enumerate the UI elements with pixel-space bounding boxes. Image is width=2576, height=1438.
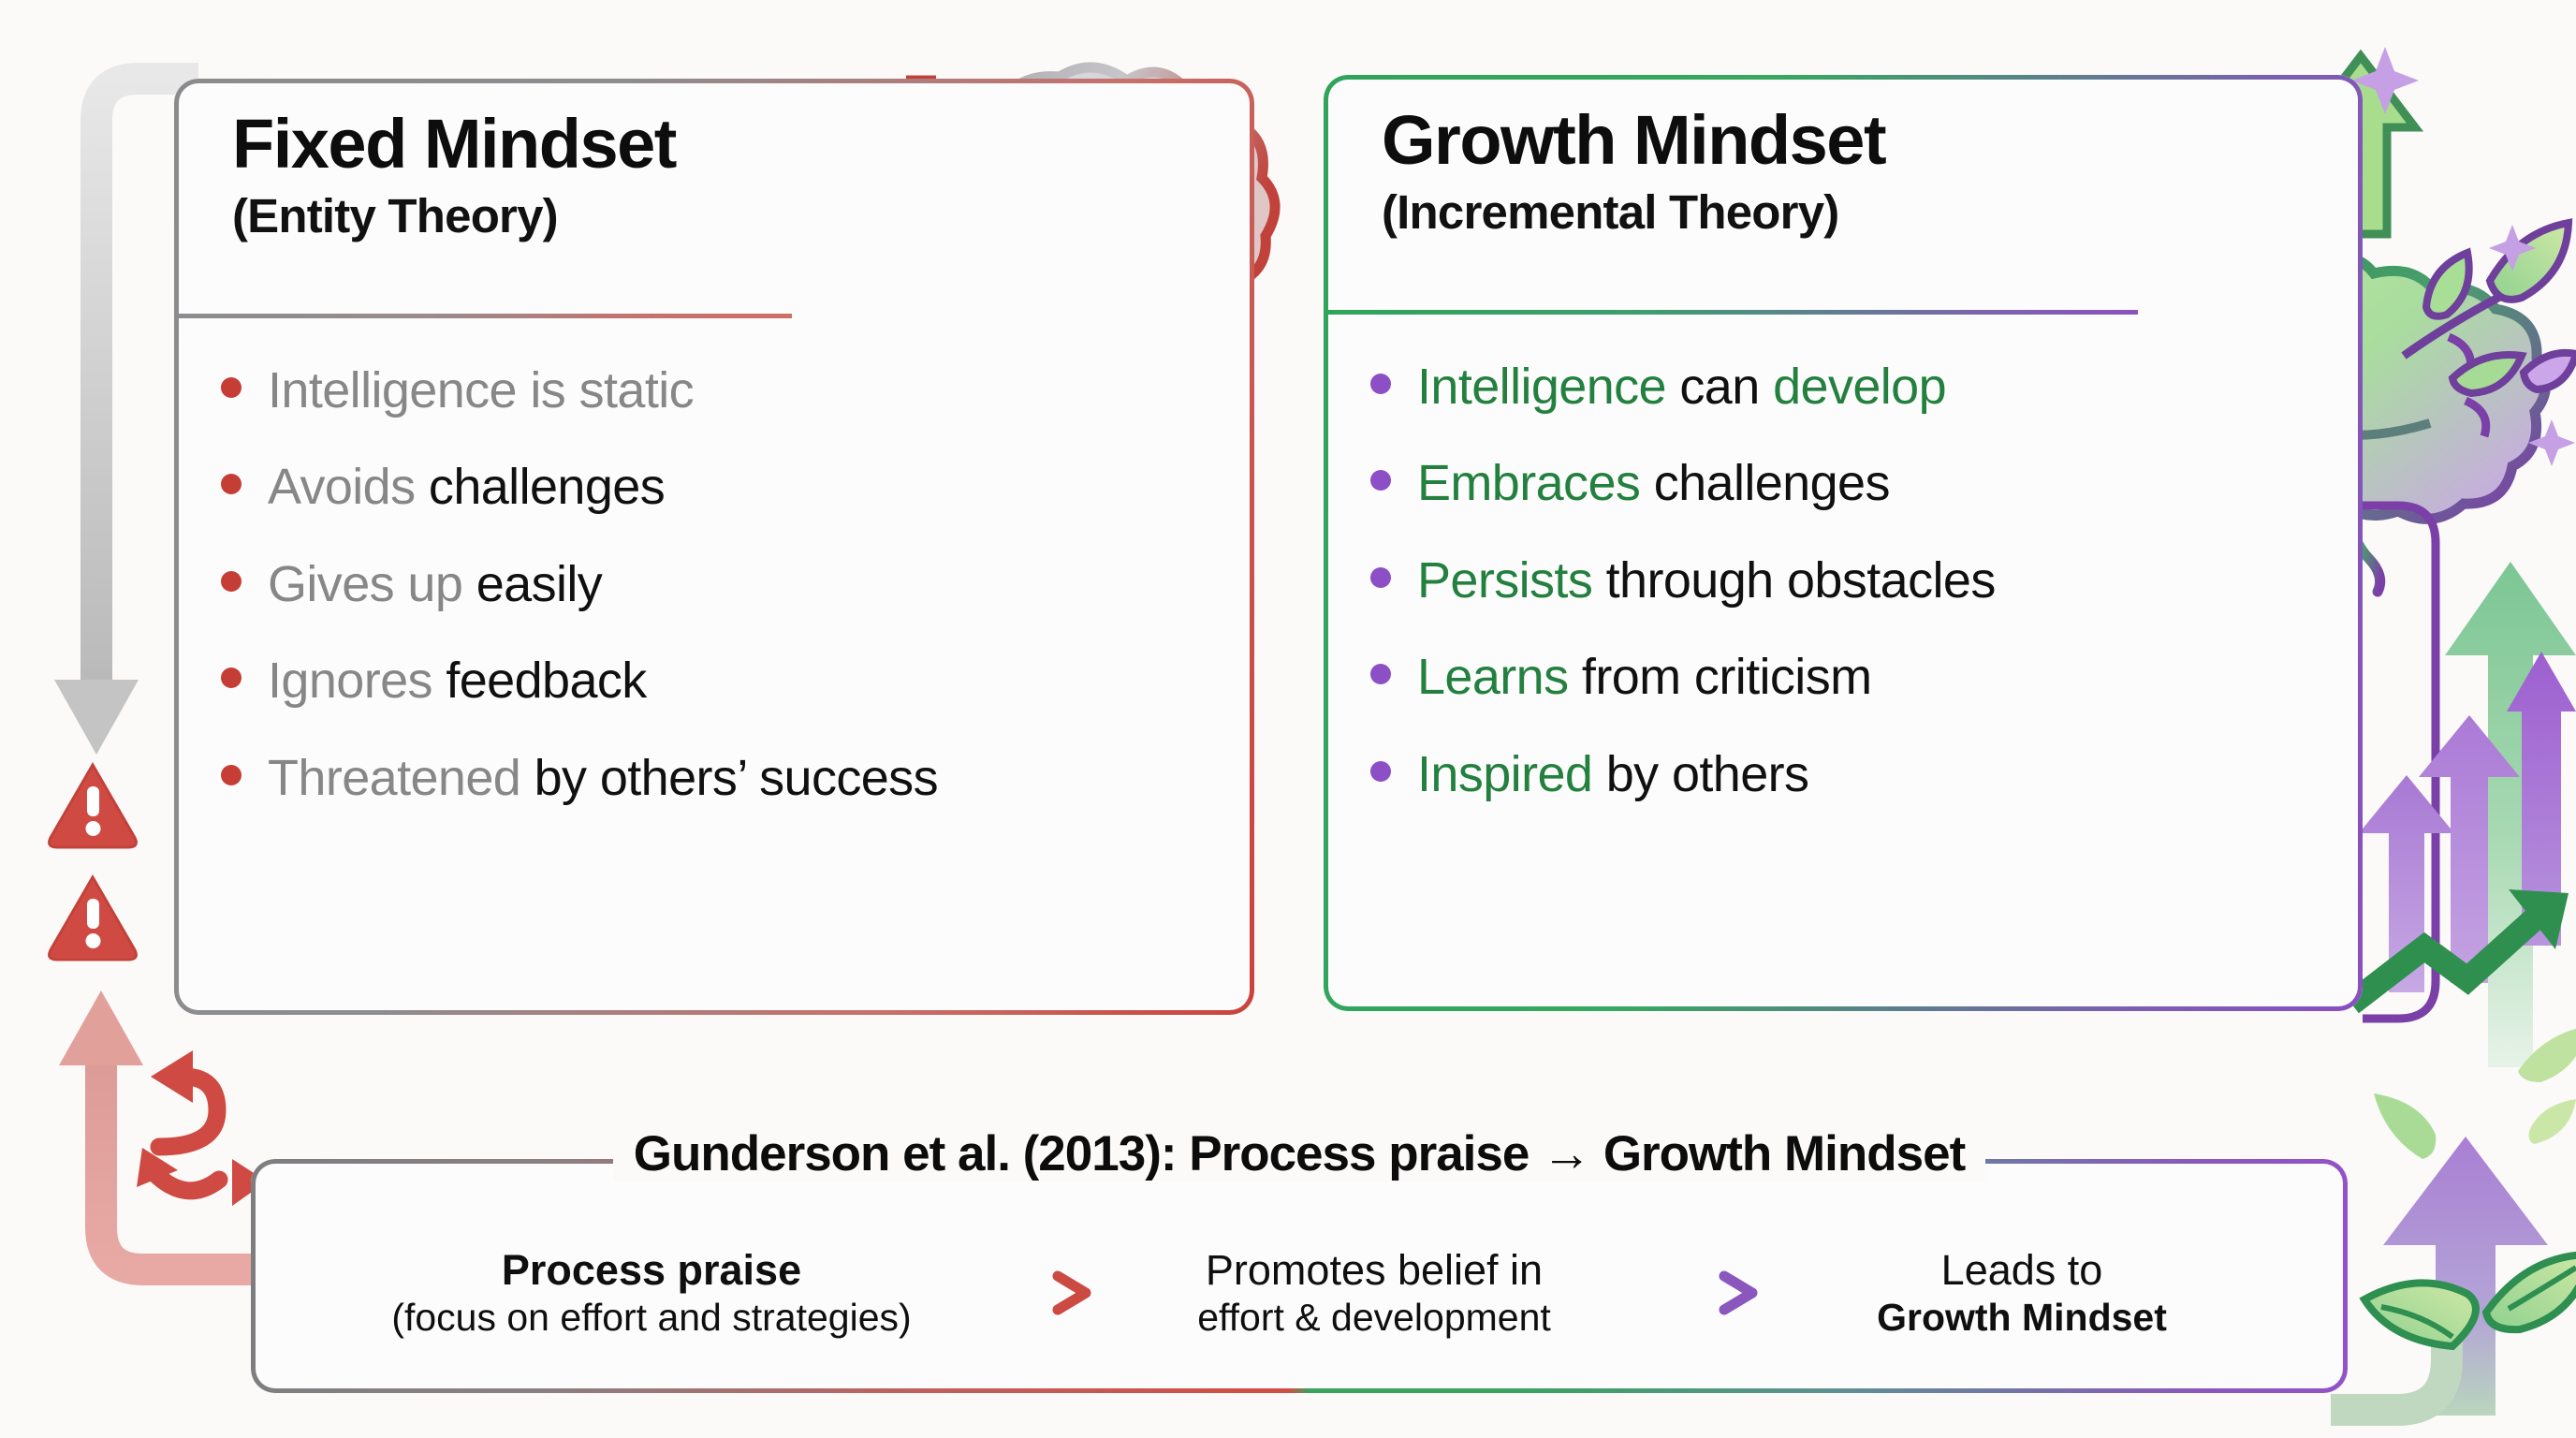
- flow-step-3: Leads to Growth Mindset: [1760, 1245, 2284, 1340]
- loop-arrow-back-icon: [151, 1050, 217, 1147]
- arrow-green-purple-icon: [1655, 1263, 1760, 1323]
- list-item: Inspired by others: [1370, 747, 2363, 802]
- red-up-arrow-icon: [59, 990, 251, 1269]
- purple-arrow-small-icon: [2359, 775, 2454, 992]
- growth-panel-title: Growth Mindset: [1382, 105, 2363, 177]
- list-item: Avoids challenges: [221, 460, 1254, 515]
- bullet-lead: Avoids: [268, 459, 429, 515]
- bullet-lead: Learns: [1417, 649, 1582, 705]
- process-flow: Process praise (focus on effort and stra…: [251, 1245, 2348, 1340]
- citation-box: Gunderson et al. (2013): Process praise …: [251, 1159, 2348, 1393]
- bullet-rest: by others’ success: [534, 750, 938, 806]
- bullet-lead-2: develop: [1773, 359, 1946, 415]
- bullet-lead: Intelligence: [1417, 359, 1679, 415]
- list-item: Embraces challenges: [1370, 456, 2363, 511]
- bullet-rest: challenges: [1654, 455, 1890, 511]
- bullet-rest: easily: [476, 556, 602, 612]
- warning-triangle-icon-2: [50, 877, 137, 960]
- bullet-lead: Embraces: [1417, 455, 1654, 511]
- infographic-canvas: Fixed Mindset (Entity Theory) Intelligen…: [0, 0, 2576, 1438]
- bullet-rest: feedback: [446, 653, 646, 709]
- bullet-rest: can: [1679, 359, 1773, 415]
- purple-arrow-medium-icon: [2419, 715, 2520, 983]
- leaf-icon-4: [2518, 1026, 2576, 1082]
- bullet-dot-icon: [221, 668, 241, 688]
- flow-step-2: Promotes belief in effort & development: [1093, 1245, 1655, 1340]
- bullet-lead: Gives up: [268, 556, 476, 612]
- flow-step-1-line1: Process praise: [315, 1245, 988, 1295]
- flow-step-1-line2: (focus on effort and strategies): [315, 1295, 988, 1340]
- list-item: Gives up easily: [221, 557, 1254, 612]
- bullet-rest: challenges: [429, 459, 665, 515]
- fixed-bullet-list: Intelligence is static Avoids challenges…: [174, 318, 1254, 806]
- fixed-panel-title: Fixed Mindset: [232, 109, 1254, 181]
- green-up-arrow-icon: [2445, 562, 2576, 1067]
- fixed-mindset-panel: Fixed Mindset (Entity Theory) Intelligen…: [174, 79, 1254, 1015]
- bullet-rest: from criticism: [1582, 649, 1872, 705]
- bullet-dot-icon: [1370, 470, 1391, 491]
- growth-mindset-panel: Growth Mindset (Incremental Theory) Inte…: [1324, 75, 2363, 1011]
- bullet-dot-icon: [1370, 567, 1391, 588]
- flow-step-2-line1: Promotes belief in: [1093, 1245, 1655, 1295]
- flow-step-2-line2: effort & development: [1093, 1295, 1655, 1340]
- purple-arrow-large-icon: [2507, 652, 2576, 946]
- loop-arrow-bidirectional-icon: [137, 1148, 267, 1206]
- citation-title-text: Gunderson et al. (2013): Process praise …: [613, 1126, 1986, 1181]
- bullet-lead: Inspired: [1417, 746, 1606, 802]
- green-zigzag-trend-arrow-icon: [2351, 889, 2569, 1004]
- bullet-lead: Threatened: [268, 750, 534, 806]
- bullet-rest: through obstacles: [1606, 552, 1996, 609]
- list-item: Threatened by others’ success: [221, 751, 1254, 806]
- fixed-panel-header: Fixed Mindset (Entity Theory): [174, 79, 1254, 318]
- bullet-dot-icon: [221, 474, 241, 494]
- list-item: Learns from criticism: [1370, 650, 2363, 705]
- leaf-icon-2: [2486, 1255, 2576, 1329]
- citation-title: Gunderson et al. (2013): Process praise …: [251, 1125, 2348, 1182]
- growth-panel-subtitle: (Incremental Theory): [1382, 184, 2363, 240]
- bullet-dot-icon: [221, 571, 241, 592]
- bullet-lead: Ignores: [268, 653, 446, 709]
- flow-step-1: Process praise (focus on effort and stra…: [315, 1245, 988, 1340]
- bullet-dot-icon: [1370, 664, 1391, 684]
- warning-triangle-icon-1: [50, 765, 137, 847]
- bullet-dot-icon: [221, 765, 241, 785]
- bullet-lead: Persists: [1417, 552, 1606, 609]
- bullet-rest: by others: [1606, 746, 1809, 802]
- bullet-lead: Intelligence is static: [268, 362, 694, 418]
- purple-green-up-arrow-icon: [2331, 1105, 2548, 1416]
- list-item: Persists through obstacles: [1370, 553, 2363, 609]
- fixed-header-divider: [174, 314, 792, 318]
- bullet-dot-icon: [221, 377, 241, 398]
- flow-step-3-line2: Growth Mindset: [1760, 1295, 2284, 1340]
- list-item: Intelligence is static: [221, 363, 1254, 418]
- leaf-icon-1: [2364, 1283, 2476, 1346]
- purple-connector-line: [2363, 506, 2436, 1019]
- growth-bullet-list: Intelligence can develop Embraces challe…: [1324, 315, 2363, 802]
- leaf-icon-5: [2529, 1099, 2576, 1144]
- fixed-panel-subtitle: (Entity Theory): [232, 188, 1254, 243]
- bullet-dot-icon: [1370, 374, 1391, 394]
- list-item: Intelligence can develop: [1370, 359, 2363, 415]
- bullet-dot-icon: [1370, 761, 1391, 782]
- list-item: Ignores feedback: [221, 653, 1254, 709]
- growth-header-divider: [1324, 310, 2138, 315]
- flow-step-3-line1: Leads to: [1760, 1245, 2284, 1295]
- leaf-icon-3: [2374, 1093, 2436, 1159]
- arrow-gray-red-icon: [988, 1263, 1093, 1323]
- growth-panel-header: Growth Mindset (Incremental Theory): [1324, 75, 2363, 315]
